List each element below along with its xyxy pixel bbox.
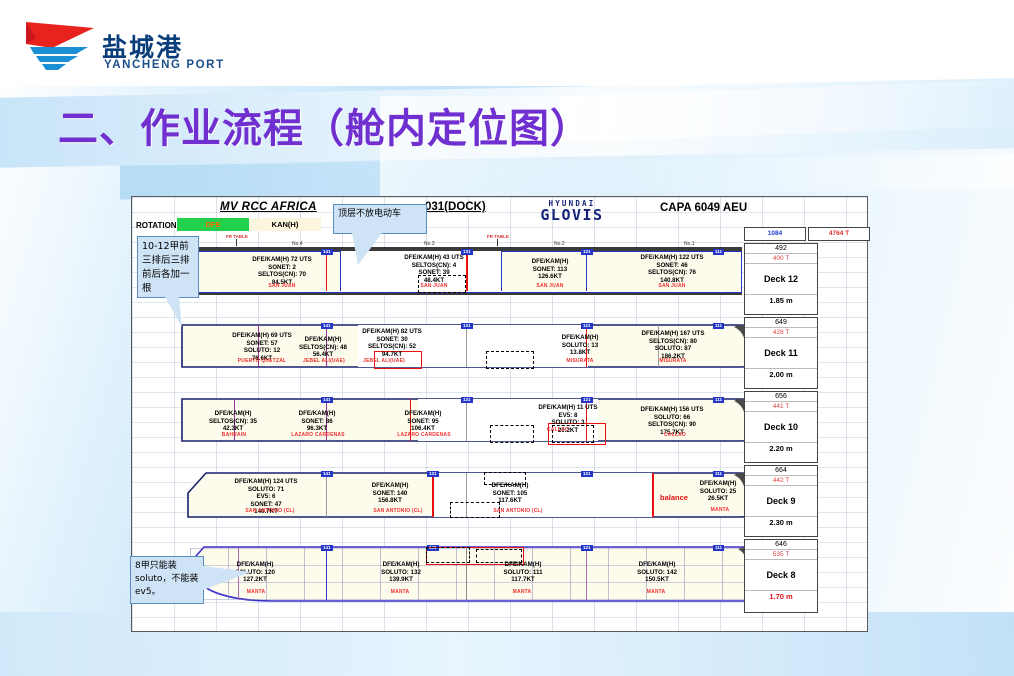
logo-english-name: YANCHENG PORT — [104, 59, 225, 71]
deck8-port-2: MANTA — [370, 589, 430, 595]
deck8-port-3: MANTA — [492, 589, 552, 595]
deck9-port-2: SAN ANTONIO (CL) — [350, 508, 446, 514]
deck10-tonnage: 441 T — [745, 402, 817, 412]
bay-number: 121 — [581, 471, 593, 477]
vessel-name: MV RCC AFRICA — [220, 201, 317, 213]
operator-name-bottom: GLOVIS — [511, 208, 633, 223]
deck10-height: 2.20 m — [745, 442, 817, 454]
deck9-name: Deck 9 — [745, 486, 817, 516]
deck12-cell-3: DFE/KAM(H)SONET: 113126.6KT — [490, 258, 610, 281]
bay-number: 111 — [713, 471, 724, 477]
deck12-cell-2: DFE/KAM(H) 43 UTSSELTOS(CN): 4SONET: 394… — [374, 254, 494, 284]
dashed-region — [486, 351, 534, 369]
deck9-cell-3: DFE/KAM(H)SONET: 105117.6KT — [458, 482, 562, 505]
deck8-units: 646 — [745, 540, 817, 550]
callout-bottom-left: 8甲只能装soluto，不能装ev5。 — [130, 556, 204, 604]
voyage-number: 031(DOCK) — [425, 201, 486, 213]
deck-stats-11: 649 428 T Deck 11 2.00 m — [744, 317, 818, 389]
deck11-cell-5: DFE/KAM(H) 167 UTSSELTOS(CN): 80SOLUTO: … — [608, 330, 738, 360]
deck-stats-9: 664 442 T Deck 9 2.30 m — [744, 465, 818, 537]
deck-stats-8: 646 535 T Deck 8 1.70 m — [744, 539, 818, 613]
deck12-units: 492 — [745, 244, 817, 254]
deck9-port-1: SAN ANTONIO (CL) — [222, 508, 318, 514]
deck12-cell-1: DFE/KAM(H) 72 UTSSONET: 2SELTOS(CN): 708… — [222, 256, 342, 286]
bay-number: 131 — [427, 471, 439, 477]
total-units: 1084 — [744, 227, 806, 241]
rotation-port-kan: KAN(H) — [249, 218, 321, 231]
bay-number: 111 — [713, 545, 724, 551]
deck10-port-5: CALLAO — [630, 432, 720, 438]
deck10-port-4: CALLAO — [528, 427, 588, 433]
deck10-port-1: BAHRAIN — [194, 432, 274, 438]
deck9-tonnage: 442 T — [745, 476, 817, 486]
deck12-tonnage: 400 T — [745, 254, 817, 264]
deck11-port-5: MISURATA — [628, 358, 718, 364]
deck9-units: 664 — [745, 466, 817, 476]
deck11-port-3: JEBEL ALI(UAE) — [336, 358, 432, 364]
frame-tick-1 — [236, 239, 237, 246]
deck9-port-4: MANTA — [690, 507, 750, 513]
deck8-cell-3: DFE/KAM(H)SOLUTO: 111117.7KT — [468, 561, 578, 584]
page-title: 二、作业流程（舱内定位图） — [58, 96, 591, 154]
deck11-port-4: MISURATA — [538, 358, 622, 364]
deck-stats-12: 492 400 T Deck 12 1.85 m — [744, 243, 818, 315]
callout-bottom-left-text: 8甲只能装soluto，不能装ev5。 — [135, 561, 198, 597]
deck12-cell-4: DFE/KAM(H) 122 UTSSONET: 46SELTOS(CN): 7… — [612, 254, 732, 284]
deck9-port-3: SAN ANTONIO (CL) — [470, 508, 566, 514]
bay-number: 121 — [581, 397, 593, 403]
deck12-port-2: SAN JUAN — [392, 283, 476, 289]
deck11-cell-3: DFE/KAM(H) 82 UTSSONET: 30SELTOS(CN): 52… — [330, 328, 454, 358]
callout-top-left: 10-12甲前三排后三排前后各加一根 — [137, 236, 199, 298]
deck10-cell-2: DFE/KAM(H)SONET: 8696.3KT — [262, 410, 372, 433]
deck8-cell-4: DFE/KAM(H)SOLUTO: 142150.5KT — [602, 561, 712, 584]
deck11-height: 2.00 m — [745, 368, 817, 380]
deck8-port-4: MANTA — [626, 589, 686, 595]
bay-number: 121 — [581, 249, 593, 255]
bay-number: 121 — [581, 323, 593, 329]
deck-row-8: 141 131 121 111 DFE/KAM(H)SOLUTO: 120127… — [178, 545, 798, 603]
deck9-height: 2.30 m — [745, 516, 817, 528]
deck10-port-2: LAZARO CARDENAS — [270, 432, 366, 438]
callout-bottom-left-tail — [203, 566, 251, 590]
deck-row-12: 141 131 121 111 DFE/KAM(H) 72 UTSSONET: … — [178, 247, 742, 295]
deck10-port-3: LAZARO CARDENAS — [376, 432, 472, 438]
total-tonnage: 4764 T — [808, 227, 870, 241]
frame-tick-3 — [497, 239, 498, 246]
deck-row-11: 141 131 121 111 DFE/KAM(H) 69 UTSSONET: … — [178, 323, 788, 369]
bay-number: 131 — [461, 323, 473, 329]
callout-top-middle-tail — [352, 233, 382, 265]
deck8-name: Deck 8 — [745, 560, 817, 590]
deck10-name: Deck 10 — [745, 412, 817, 442]
deck-row-9: 141 131 121 111 DFE/KAM(H) 124 UTSSOLUTO… — [178, 471, 788, 519]
deck11-name: Deck 11 — [745, 338, 817, 368]
yancheng-port-logo: 盐城港 YANCHENG PORT — [18, 14, 208, 76]
balance-label: balance — [660, 493, 688, 502]
deck-stats-10: 656 441 T Deck 10 2.20 m — [744, 391, 818, 463]
bay-number: 121 — [581, 545, 593, 551]
callout-top-middle: 顶层不放电动车 — [333, 204, 427, 234]
capacity-label: CAPA 6049 AEU — [660, 202, 747, 214]
bay-number: 141 — [321, 397, 333, 403]
bay-number: 141 — [321, 471, 333, 477]
bay-number: 141 — [321, 249, 333, 255]
deck12-port-1: SAN JUAN — [240, 283, 324, 289]
deck11-units: 649 — [745, 318, 817, 328]
deck8-height: 1.70 m — [745, 590, 817, 602]
rotation-label: ROTATION: — [136, 221, 179, 230]
deck9-cell-2: DFE/KAM(H)SONET: 140156.8KT — [338, 482, 442, 505]
bay-number: 111 — [713, 323, 724, 329]
deck10-units: 656 — [745, 392, 817, 402]
bay-number: 131 — [461, 397, 473, 403]
deck12-port-4: SAN JUAN — [630, 283, 714, 289]
rotation-port-dfe: DFE — [177, 218, 249, 231]
deck12-height: 1.85 m — [745, 294, 817, 306]
operator-logo: HYUNDAI GLOVIS — [511, 199, 633, 223]
bay-number: 111 — [713, 397, 724, 403]
deck12-port-3: SAN JUAN — [508, 283, 592, 289]
deck10-cell-3: DFE/KAM(H)SONET: 95106.4KT — [368, 410, 478, 433]
deck11-tonnage: 428 T — [745, 328, 817, 338]
bay-number: 141 — [321, 545, 333, 551]
deck12-name: Deck 12 — [745, 264, 817, 294]
deck8-cell-2: DFE/KAM(H)SOLUTO: 132139.9KT — [346, 561, 456, 584]
deck8-tonnage: 535 T — [745, 550, 817, 560]
deck-row-10: 141 131 121 111 DFE/KAM(H)SELTOS(CN): 35… — [178, 397, 788, 443]
